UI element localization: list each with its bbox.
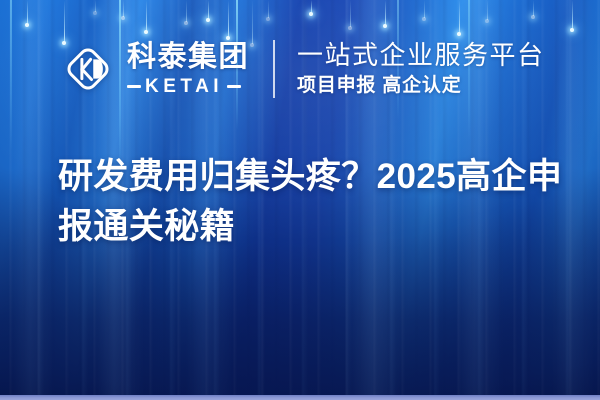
banner-header: 科泰集团 KETAI 一站式企业服务平台 项目申报 高企认定	[60, 40, 545, 98]
light-dot	[206, 18, 210, 22]
light-dot	[266, 17, 270, 21]
light-dot	[121, 16, 125, 20]
bottom-accent-strip	[0, 395, 600, 400]
light-dot	[184, 21, 188, 25]
light-streak	[146, 0, 147, 31]
light-streak	[268, 0, 269, 18]
promo-banner: 科泰集团 KETAI 一站式企业服务平台 项目申报 高企认定 研发费用归集头疼？…	[0, 0, 600, 400]
light-dot	[383, 24, 387, 28]
light-streak	[64, 0, 65, 42]
light-dot	[570, 28, 574, 32]
brand-wordmark: 科泰集团 KETAI	[127, 43, 249, 96]
light-dot	[348, 26, 352, 30]
light-streak	[533, 0, 534, 16]
light-dot	[422, 17, 426, 21]
light-streak	[208, 0, 209, 19]
brand-name-en: KETAI	[145, 77, 223, 96]
tagline-primary: 一站式企业服务平台	[297, 41, 545, 70]
light-streak	[311, 0, 312, 13]
light-streak	[350, 0, 351, 27]
light-dot	[531, 15, 535, 19]
light-dot	[457, 32, 461, 36]
light-streak	[572, 0, 573, 29]
light-streak	[27, 0, 28, 24]
light-streak	[228, 0, 229, 37]
brand-logo: 科泰集团 KETAI	[60, 41, 249, 97]
ketai-diamond-kd-logo-icon	[60, 41, 116, 97]
tagline-secondary: 项目申报 高企认定	[297, 75, 545, 96]
light-beam	[10, 0, 12, 150]
tagline-block: 一站式企业服务平台 项目申报 高企认定	[297, 41, 545, 96]
brand-name-en-row: KETAI	[127, 77, 249, 96]
light-streak	[123, 0, 124, 17]
headline-text: 研发费用归集头疼？2025高企申报通关秘籍	[58, 152, 564, 251]
light-streak	[252, 0, 253, 44]
light-dot	[93, 11, 97, 15]
light-streak	[186, 0, 187, 22]
light-streak	[95, 0, 96, 12]
light-dot	[485, 19, 489, 23]
header-divider	[273, 40, 275, 98]
light-streak	[424, 0, 425, 18]
brand-name-cn: 科泰集团	[127, 43, 249, 72]
light-dot	[309, 12, 313, 16]
wordmark-rule-right	[227, 85, 241, 88]
wordmark-rule-left	[127, 85, 141, 88]
light-streak	[459, 0, 460, 33]
light-streak	[385, 0, 386, 25]
light-dot	[25, 23, 29, 27]
light-streak	[487, 0, 488, 20]
light-dot	[144, 30, 148, 34]
